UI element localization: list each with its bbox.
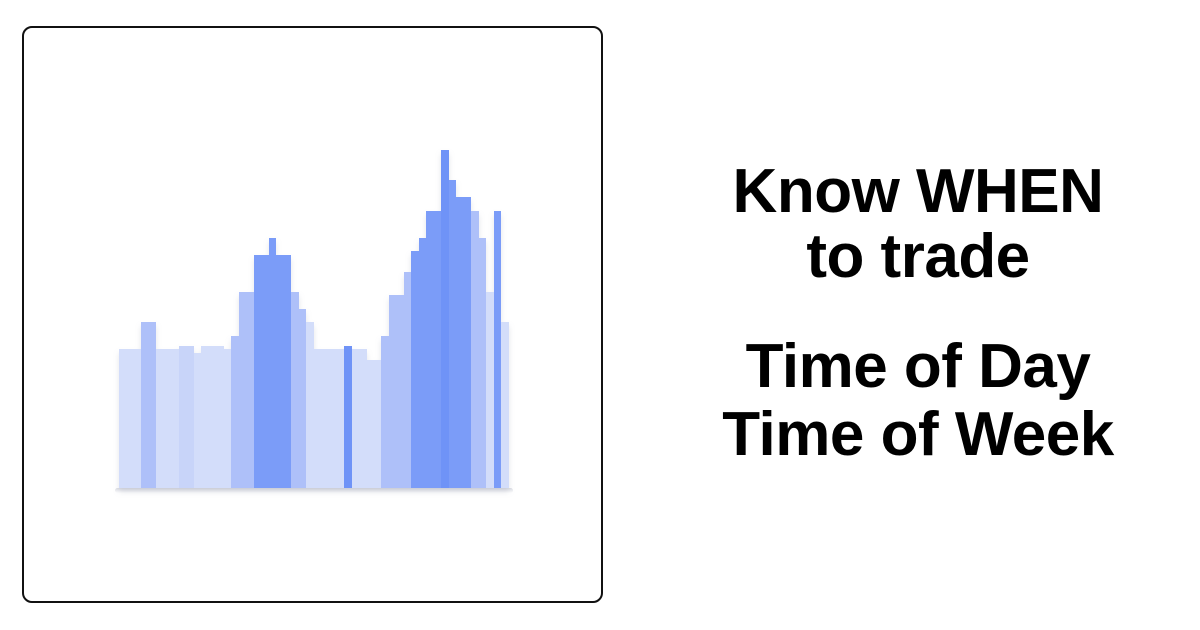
bar bbox=[434, 211, 441, 488]
bar bbox=[164, 349, 171, 488]
bar bbox=[299, 309, 306, 488]
bar bbox=[209, 346, 216, 488]
bar bbox=[269, 238, 276, 488]
headline-primary-line-2: to trade bbox=[733, 225, 1104, 289]
headline-secondary-line-2: Time of Week bbox=[722, 401, 1113, 469]
bar bbox=[479, 238, 486, 488]
bar bbox=[216, 346, 223, 488]
bar bbox=[486, 292, 493, 488]
bar bbox=[471, 211, 478, 488]
bar bbox=[284, 255, 291, 488]
bar bbox=[419, 238, 426, 488]
headline-primary: Know WHEN to trade bbox=[733, 160, 1104, 289]
bar bbox=[194, 353, 201, 488]
bar bbox=[411, 251, 418, 488]
bar bbox=[367, 360, 374, 488]
bar bbox=[239, 292, 246, 488]
bar bbox=[134, 349, 141, 488]
bar bbox=[441, 150, 448, 488]
bar bbox=[426, 211, 433, 488]
bar bbox=[389, 295, 396, 488]
bar bbox=[291, 292, 298, 488]
bar bbox=[141, 322, 148, 488]
bar bbox=[329, 349, 336, 488]
bar bbox=[494, 211, 501, 488]
headline-primary-line-1: Know WHEN bbox=[733, 160, 1104, 224]
bar bbox=[276, 255, 283, 488]
headline-secondary: Time of Day Time of Week bbox=[722, 333, 1113, 469]
bar bbox=[254, 255, 261, 488]
bar bbox=[449, 180, 456, 488]
bar bbox=[261, 255, 268, 488]
bar bbox=[352, 349, 359, 488]
bar bbox=[231, 336, 238, 488]
headline-secondary-line-1: Time of Day bbox=[722, 333, 1113, 401]
bar bbox=[456, 197, 463, 488]
bar bbox=[396, 295, 403, 488]
bar bbox=[306, 322, 313, 488]
bar bbox=[314, 349, 321, 488]
bar bbox=[321, 349, 328, 488]
chart-baseline bbox=[115, 488, 513, 493]
bar-highlighted bbox=[344, 346, 352, 488]
bar bbox=[186, 346, 193, 488]
bar bbox=[404, 272, 411, 488]
bar bbox=[201, 346, 208, 488]
poster-root: Know WHEN to trade Time of Day Time of W… bbox=[0, 0, 1200, 630]
bar bbox=[374, 360, 381, 488]
bar bbox=[119, 349, 126, 488]
bar bbox=[156, 349, 163, 488]
bar-chart-bars bbox=[119, 150, 509, 488]
bar bbox=[359, 349, 366, 488]
bar-chart bbox=[119, 148, 509, 488]
bar bbox=[246, 292, 253, 488]
bar bbox=[224, 349, 231, 488]
bar bbox=[126, 349, 133, 488]
bar bbox=[381, 336, 388, 488]
bar bbox=[149, 322, 156, 488]
bar bbox=[464, 197, 471, 488]
chart-card bbox=[22, 26, 603, 603]
headline-block: Know WHEN to trade Time of Day Time of W… bbox=[636, 0, 1200, 630]
bar bbox=[501, 322, 508, 488]
bar bbox=[171, 349, 178, 488]
bar bbox=[336, 349, 343, 488]
bar bbox=[179, 346, 186, 488]
